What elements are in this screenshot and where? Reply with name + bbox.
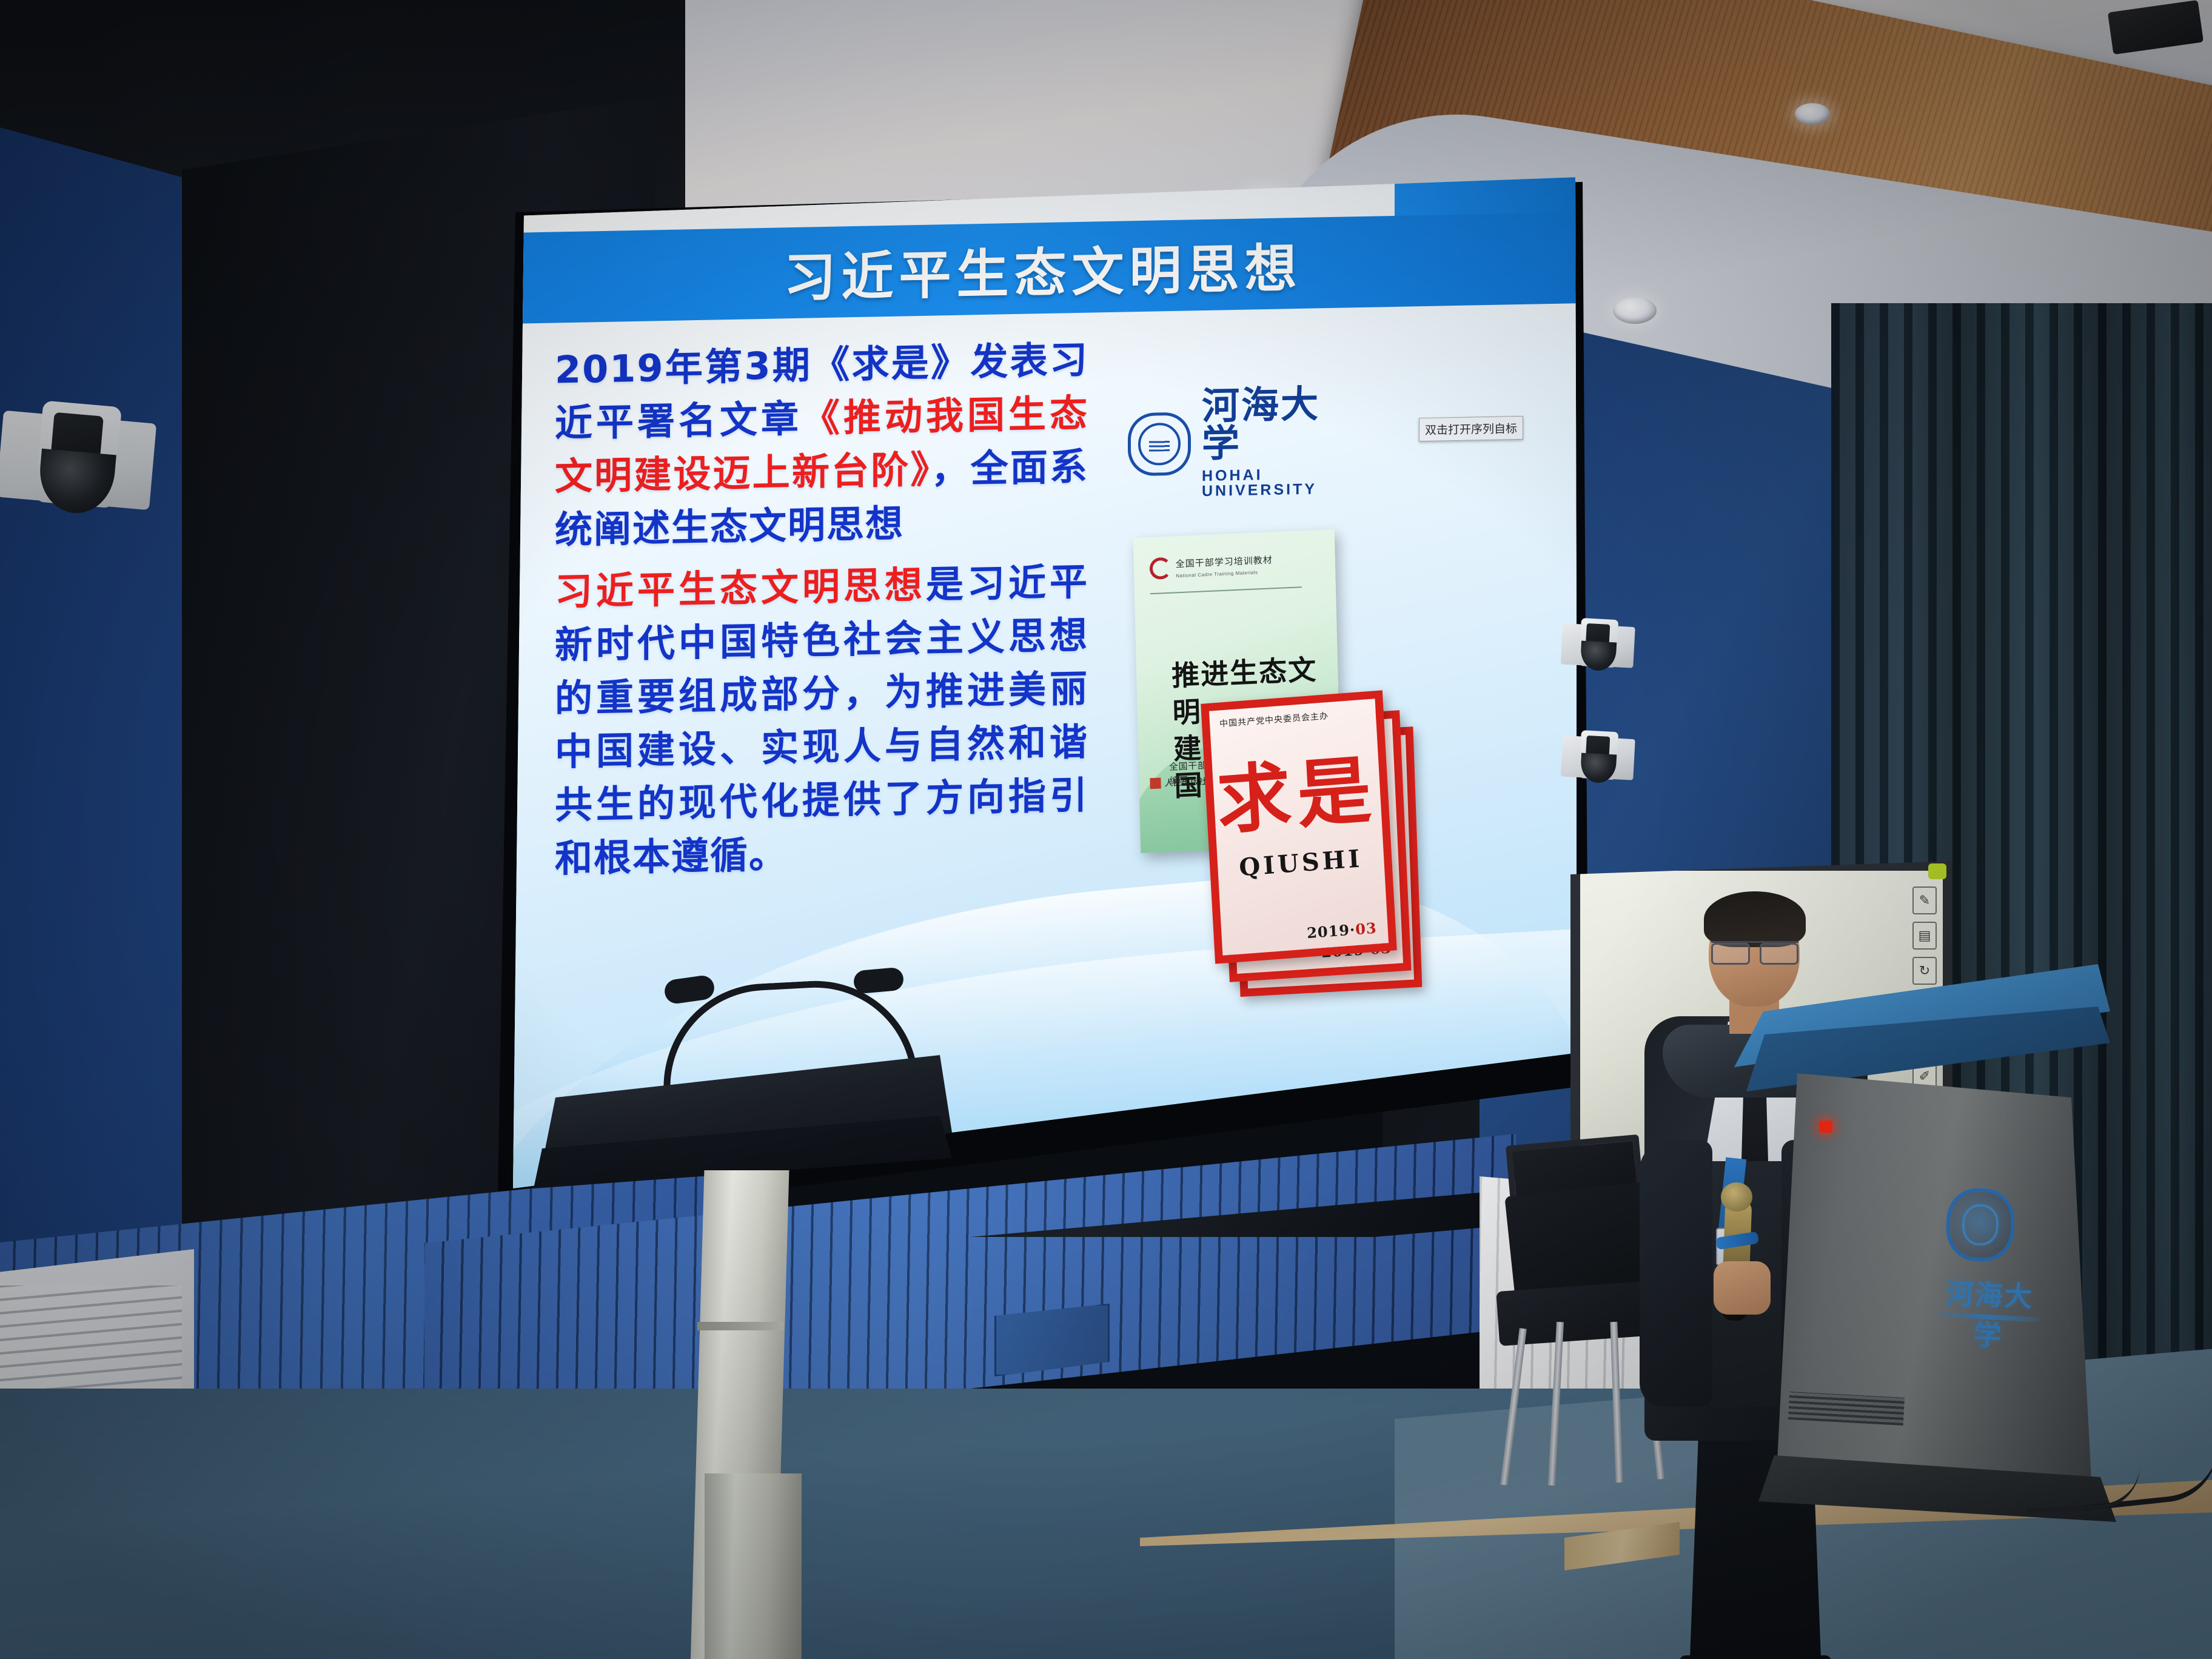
podium-vent [1788, 1392, 1905, 1426]
book-badge: 全国干部学习培训教材 National Cadre Training Mater… [1150, 552, 1273, 580]
presenter-hair [1704, 891, 1806, 947]
slide-title: 习近平生态文明思想 [784, 225, 1302, 310]
hohai-logo: 河海大学 HOHAI UNIVERSITY [1128, 395, 1328, 490]
podium-body [1777, 1073, 2092, 1492]
paragraph-2-highlight: 习近平生态文明思想 [555, 563, 926, 614]
magazine-publisher: 中国共产党中央委员会主办 [1219, 709, 1329, 729]
slide-paragraph-1: 2019年第3期《求是》发表习近平署名文章《推动我国生态文明建设迈上新台阶》，全… [555, 333, 1088, 557]
wall-camera-icon [0, 397, 158, 537]
magazine-stack: 2019·03 2019·03 中国共产党中央委员会主办 求是 QIUSHI 2… [1201, 684, 1443, 1053]
hohai-name-cn: 河海大学 [1202, 386, 1328, 463]
magazine-cover-front: 中国共产党中央委员会主办 求是 QIUSHI 2019·03 [1201, 690, 1397, 964]
ceiling-downlight [1795, 103, 1830, 125]
book-publisher-seal: 人民出版社 [1150, 775, 1207, 789]
lecture-hall-photo: 习近平生态文明思想 2019年第3期《求是》发表习近平署名文章《推动我国生态文明… [0, 0, 2212, 1659]
presenter-shoes [1680, 1655, 1831, 1659]
pen-icon[interactable]: ✎ [1912, 886, 1937, 914]
presentation-slide: 习近平生态文明思想 2019年第3期《求是》发表习近平署名文章《推动我国生态文明… [509, 172, 1577, 1193]
refresh-icon[interactable]: ↻ [1912, 957, 1937, 985]
book-divider [1150, 586, 1302, 594]
whiteboard-corner-marker [1928, 863, 1946, 879]
hohai-crest-icon [1128, 412, 1191, 476]
wall-camera-icon [1560, 617, 1636, 681]
badge-g-icon [1150, 557, 1172, 580]
magazine-logo-cn: 求是 [1212, 752, 1382, 838]
badge-line-1: 全国干部学习培训教材 [1176, 553, 1273, 570]
wall-camera-icon [1560, 729, 1636, 793]
slide-title-bar: 习近平生态文明思想 [509, 212, 1577, 324]
ceiling-downlight [1613, 297, 1657, 324]
hohai-crest-icon [1945, 1187, 2016, 1262]
projection-screen: 习近平生态文明思想 2019年第3期《求是》发表习近平署名文章《推动我国生态文明… [509, 172, 1577, 1193]
screen-tooltip: 双击打开序列自标 [1419, 416, 1523, 441]
podium-status-led [1819, 1121, 1832, 1133]
presenter-arm-left [1640, 1140, 1712, 1407]
slide-body-text: 2019年第3期《求是》发表习近平署名文章《推动我国生态文明建设迈上新台阶》，全… [555, 333, 1088, 894]
lectern-column-lower [705, 1473, 802, 1659]
seal-icon [1150, 778, 1161, 789]
glasses-icon [1711, 941, 1798, 959]
keyboard-icon[interactable]: ▤ [1912, 922, 1937, 950]
slide-paragraph-2: 习近平生态文明思想是习近平新时代中国特色社会主义思想的重要组成部分，为推进美丽中… [555, 555, 1088, 886]
badge-text: 全国干部学习培训教材 National Cadre Training Mater… [1176, 553, 1273, 578]
microphone-head-icon [1721, 1182, 1752, 1212]
lectern-column-seam [697, 1322, 783, 1330]
presenter-hand [1714, 1261, 1771, 1315]
badge-line-2: National Cadre Training Materials [1176, 569, 1273, 578]
magazine-logo-en: QIUSHI [1217, 843, 1384, 883]
hohai-name-en: HOHAI UNIVERSITY [1202, 466, 1328, 499]
magazine-issue: 2019·03 [1306, 919, 1377, 942]
hohai-logo-text: 河海大学 HOHAI UNIVERSITY [1202, 386, 1328, 499]
